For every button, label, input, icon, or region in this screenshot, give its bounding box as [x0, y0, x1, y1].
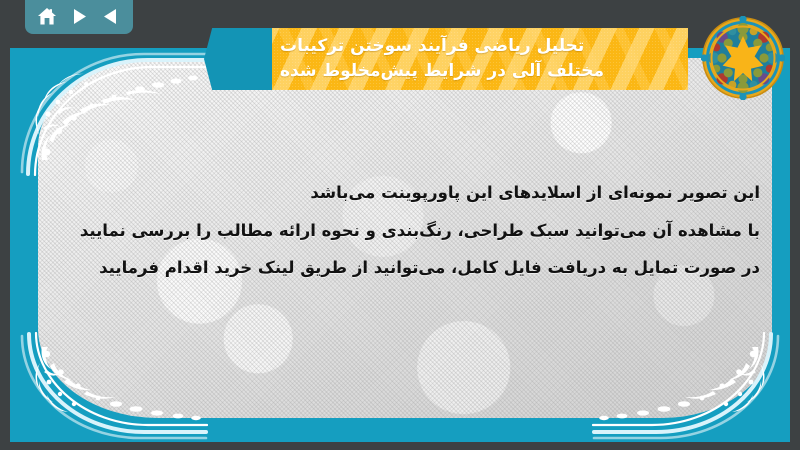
slide-title-line-1: تحلیل ریاضی فرآیند سوختن ترکیبات [280, 34, 584, 60]
title-banner: تحلیل ریاضی فرآیند سوختن ترکیبات مختلف آ… [200, 18, 798, 94]
body-line-2: با مشاهده آن می‌توانید سبک طراحی، رنگ‌بن… [40, 212, 760, 250]
slide-title-line-2: مختلف آلی در شرایط پیش‌مخلوط شده [280, 59, 604, 85]
decorative-medallion-icon [701, 16, 785, 100]
title-banner-arrow-tab [204, 28, 272, 90]
home-icon [37, 7, 57, 26]
triangle-right-icon [71, 8, 87, 25]
body-line-1: این تصویر نمونه‌ای از اسلایدهای این پاور… [40, 174, 760, 212]
home-button[interactable] [34, 4, 60, 28]
body-line-3: در صورت تمایل به دریافت فایل کامل، می‌تو… [40, 249, 760, 287]
slide-canvas: این تصویر نمونه‌ای از اسلایدهای این پاور… [10, 48, 790, 442]
triangle-left-icon [103, 8, 119, 25]
next-slide-button[interactable] [66, 4, 92, 28]
navigation-bar [25, 0, 133, 34]
slide-title: تحلیل ریاضی فرآیند سوختن ترکیبات مختلف آ… [270, 28, 686, 90]
slide-body-text: این تصویر نمونه‌ای از اسلایدهای این پاور… [40, 174, 760, 287]
previous-slide-button[interactable] [98, 4, 124, 28]
slide-viewer: این تصویر نمونه‌ای از اسلایدهای این پاور… [0, 0, 800, 450]
